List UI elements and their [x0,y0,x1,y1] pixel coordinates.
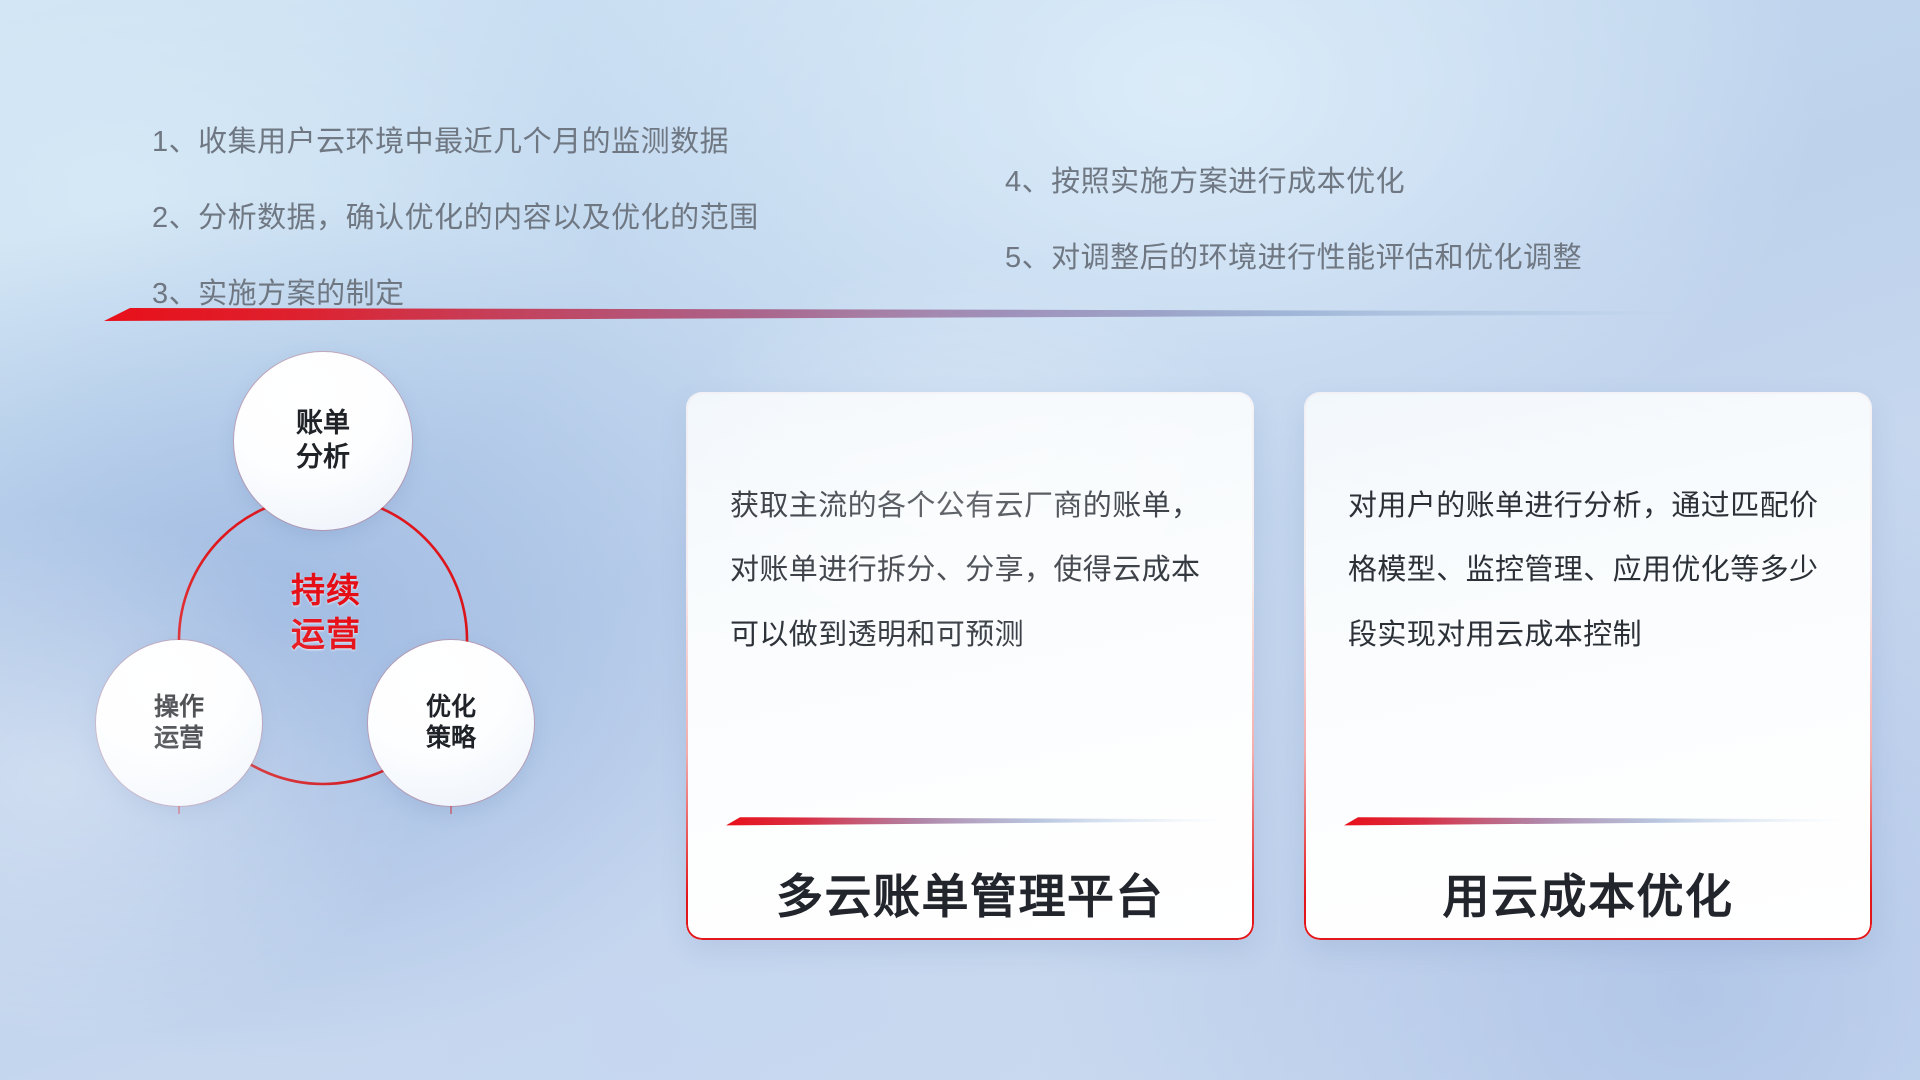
center-label-line1: 持续 [246,570,406,614]
center-label-line2: 运营 [246,614,406,658]
divider-shape-icon [104,306,1702,322]
card-rule-shape-icon [1344,816,1838,826]
steps-left-column: 1、收集用户云环境中最近几个月的监测数据 2、分析数据，确认优化的内容以及优化的… [152,118,759,312]
bubble-label-line2: 运营 [154,723,204,754]
card-accent-rule [1344,816,1838,826]
diagram-center-label: 持续 运营 [246,570,406,657]
slide-canvas: 1、收集用户云环境中最近几个月的监测数据 2、分析数据，确认优化的内容以及优化的… [0,0,1920,1080]
bubble-label-line1: 账单 [296,407,350,441]
bubble-operation[interactable]: 操作 运营 [96,640,262,806]
bubble-label-line1: 操作 [154,692,204,723]
step-item: 5、对调整后的环境进行性能评估和优化调整 [1005,234,1582,276]
card-body-text: 获取主流的各个公有云厂商的账单，对账单进行拆分、分享，使得云成本可以做到透明和可… [730,474,1214,667]
card-cloud-cost-optimization[interactable]: 对用户的账单进行分析，通过匹配价格模型、监控管理、应用优化等多少段实现对用云成本… [1304,392,1872,940]
bubble-label-line2: 策略 [426,723,476,754]
card-multicloud-billing[interactable]: 获取主流的各个公有云厂商的账单，对账单进行拆分、分享，使得云成本可以做到透明和可… [686,392,1254,940]
card-rule-shape-icon [726,816,1220,826]
card-accent-rule [726,816,1220,826]
card-body-text: 对用户的账单进行分析，通过匹配价格模型、监控管理、应用优化等多少段实现对用云成本… [1348,474,1832,667]
bubble-bill-analysis[interactable]: 账单 分析 [234,352,412,530]
bubble-label-line2: 分析 [296,441,350,475]
steps-right-column: 4、按照实施方案进行成本优化 5、对调整后的环境进行性能评估和优化调整 [1005,158,1582,276]
section-divider [104,306,1702,322]
step-item: 1、收集用户云环境中最近几个月的监测数据 [152,118,759,160]
card-title: 用云成本优化 [1304,858,1872,927]
continuous-operation-diagram: 账单 分析 操作 运营 优化 策略 持续 运营 [96,352,636,952]
card-title: 多云账单管理平台 [686,858,1254,927]
step-item: 2、分析数据，确认优化的内容以及优化的范围 [152,194,759,236]
bubble-label-line1: 优化 [426,692,476,723]
step-item: 4、按照实施方案进行成本优化 [1005,158,1582,200]
bubble-optimization-strategy[interactable]: 优化 策略 [368,640,534,806]
